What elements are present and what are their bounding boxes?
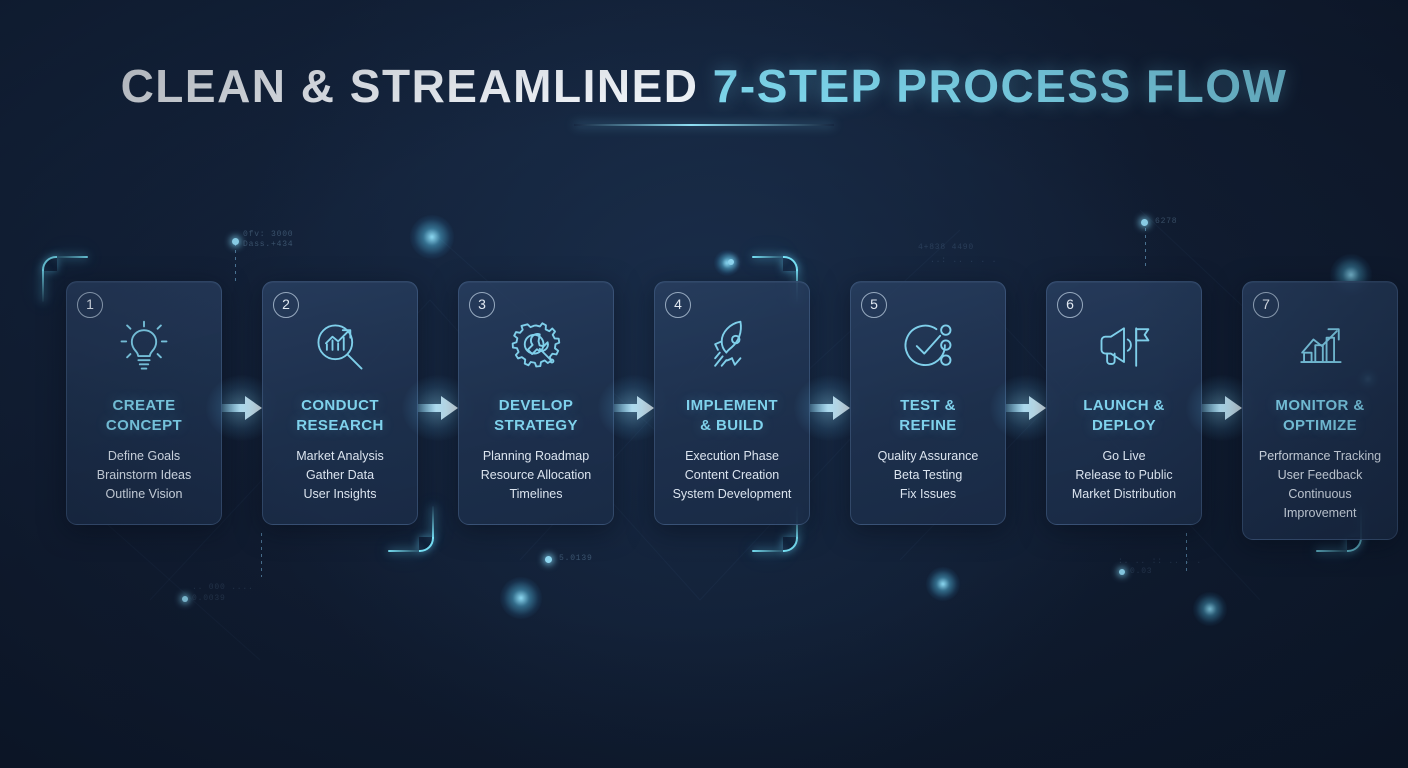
rocket-icon	[664, 310, 800, 384]
micro-label: 6278	[1155, 217, 1177, 226]
step-detail-line: User Insights	[272, 485, 408, 504]
step-detail-line: Quality Assurance	[860, 447, 996, 466]
step-card-6[interactable]: 6 LAUNCH &DEPLOYGo LiveRelease to Public…	[1046, 281, 1202, 525]
step-detail-line: Execution Phase	[664, 447, 800, 466]
step-title: CONDUCTRESEARCH	[272, 396, 408, 437]
step-title-line: OPTIMIZE	[1252, 416, 1388, 436]
arrow-3-to-4	[614, 395, 654, 421]
step-detail-line: Performance Tracking	[1252, 447, 1388, 466]
step-detail-line: Brainstorm Ideas	[76, 466, 212, 485]
step-number-badge: 3	[469, 292, 495, 318]
step-title-line: REFINE	[860, 416, 996, 436]
glow-dot	[1119, 569, 1125, 575]
step-detail-line: Timelines	[468, 485, 604, 504]
step-number-badge: 4	[665, 292, 691, 318]
step-detail-line: Release to Public	[1056, 466, 1192, 485]
step-card-7[interactable]: 7 MONITOR &OPTIMIZEPerformance TrackingU…	[1242, 281, 1398, 540]
micro-label: 4+838 4490	[918, 243, 974, 252]
step-detail-line: Planning Roadmap	[468, 447, 604, 466]
lightbulb-icon	[76, 310, 212, 384]
step-card-2[interactable]: 2 CONDUCTRESEARCHMarket AnalysisGather D…	[262, 281, 418, 525]
step-title-line: DEPLOY	[1056, 416, 1192, 436]
step-details: Define GoalsBrainstorm IdeasOutline Visi…	[76, 447, 212, 504]
step-number-badge: 7	[1253, 292, 1279, 318]
checkmark-circle-icon	[860, 310, 996, 384]
step-title-line: CONCEPT	[76, 416, 212, 436]
step-title-line: STRATEGY	[468, 416, 604, 436]
step-card-5[interactable]: 5 TEST &REFINEQuality AssuranceBeta Test…	[850, 281, 1006, 525]
arrow-5-to-6	[1006, 395, 1046, 421]
step-detail-line: Outline Vision	[76, 485, 212, 504]
step-card-3[interactable]: 3 DEVELOPSTRATEGYPlanning RoadmapResourc…	[458, 281, 614, 525]
ambient-orb	[500, 577, 542, 619]
title-underline	[574, 124, 834, 126]
step-title-line: CONDUCT	[272, 396, 408, 416]
arrow-4-to-5	[810, 395, 850, 421]
step-details: Planning RoadmapResource AllocationTimel…	[468, 447, 604, 504]
step-details: Market AnalysisGather DataUser Insights	[272, 447, 408, 504]
micro-label: 0fv: 3000	[243, 230, 293, 239]
step-detail-line: User Feedback	[1252, 466, 1388, 485]
step-detail-line: Go Live	[1056, 447, 1192, 466]
step-detail-line: System Development	[664, 485, 800, 504]
ambient-orb	[926, 567, 960, 601]
step-detail-line: Content Creation	[664, 466, 800, 485]
step-card-4[interactable]: 4 IMPLEMENT& BUILDExecution PhaseContent…	[654, 281, 810, 525]
step-details: Execution PhaseContent CreationSystem De…	[664, 447, 800, 504]
glow-dot	[182, 596, 188, 602]
step-title: CREATECONCEPT	[76, 396, 212, 437]
dot-line	[261, 533, 262, 577]
arrow-1-to-2	[222, 395, 262, 421]
step-title: MONITOR &OPTIMIZE	[1252, 396, 1388, 437]
step-title-line: DEVELOP	[468, 396, 604, 416]
ambient-orb	[714, 250, 740, 276]
step-detail-line: Beta Testing	[860, 466, 996, 485]
step-details: Quality AssuranceBeta TestingFix Issues	[860, 447, 996, 504]
title-accent: 7-STEP PROCESS FLOW	[713, 60, 1288, 112]
ambient-orb	[1193, 592, 1227, 626]
header: CLEAN & STREAMLINED 7-STEP PROCESS FLOW	[0, 62, 1408, 126]
step-detail-line: Fix Issues	[860, 485, 996, 504]
step-title-line: MONITOR &	[1252, 396, 1388, 416]
step-title: DEVELOPSTRATEGY	[468, 396, 604, 437]
step-detail-line: Market Analysis	[272, 447, 408, 466]
step-details: Go LiveRelease to PublicMarket Distribut…	[1056, 447, 1192, 504]
step-title-line: TEST &	[860, 396, 996, 416]
process-flow-row: 1 CREATECONCEPTDefine GoalsBrainstorm Id…	[66, 281, 1344, 540]
arrow-2-to-3	[418, 395, 458, 421]
megaphone-flag-icon	[1056, 310, 1192, 384]
dot-line	[1145, 228, 1146, 266]
micro-label: 5.0139	[559, 554, 593, 563]
step-number-badge: 1	[77, 292, 103, 318]
gear-wrench-icon	[468, 310, 604, 384]
magnifier-chart-icon	[272, 310, 408, 384]
step-number-badge: 6	[1057, 292, 1083, 318]
step-title-line: IMPLEMENT	[664, 396, 800, 416]
step-title-line: RESEARCH	[272, 416, 408, 436]
micro-label: Dass.+434	[243, 240, 293, 249]
step-title-line: LAUNCH &	[1056, 396, 1192, 416]
arrow-6-to-7	[1202, 395, 1242, 421]
step-title-line: CREATE	[76, 396, 212, 416]
step-detail-line: Resource Allocation	[468, 466, 604, 485]
step-title: LAUNCH &DEPLOY	[1056, 396, 1192, 437]
glow-dot	[232, 238, 239, 245]
step-number-badge: 5	[861, 292, 887, 318]
step-title: IMPLEMENT& BUILD	[664, 396, 800, 437]
dot-line	[235, 243, 236, 283]
micro-label: 0.03	[1130, 567, 1152, 576]
micro-label: .. 000 ....	[192, 583, 254, 592]
step-detail-line: Market Distribution	[1056, 485, 1192, 504]
ambient-orb	[410, 215, 454, 259]
glow-dot	[1141, 219, 1148, 226]
step-details: Performance TrackingUser FeedbackContinu…	[1252, 447, 1388, 523]
step-detail-line: Continuous Improvement	[1252, 485, 1388, 523]
step-title-line: & BUILD	[664, 416, 800, 436]
glow-dot	[728, 259, 734, 265]
micro-label: ..: .. . . .	[930, 256, 997, 265]
glow-dot	[545, 556, 552, 563]
step-title: TEST &REFINE	[860, 396, 996, 437]
title-primary: CLEAN & STREAMLINED	[121, 60, 699, 112]
micro-label: 0.0039	[192, 594, 226, 603]
step-number-badge: 2	[273, 292, 299, 318]
infographic-canvas: 0fv: 3000Dass.+43462785.01390.0039.. 000…	[0, 0, 1408, 768]
step-detail-line: Gather Data	[272, 466, 408, 485]
page-title: CLEAN & STREAMLINED 7-STEP PROCESS FLOW	[0, 62, 1408, 110]
step-card-1[interactable]: 1 CREATECONCEPTDefine GoalsBrainstorm Id…	[66, 281, 222, 525]
growth-chart-icon	[1252, 310, 1388, 384]
micro-label: :. .. :: .. : .	[1118, 557, 1202, 566]
step-detail-line: Define Goals	[76, 447, 212, 466]
